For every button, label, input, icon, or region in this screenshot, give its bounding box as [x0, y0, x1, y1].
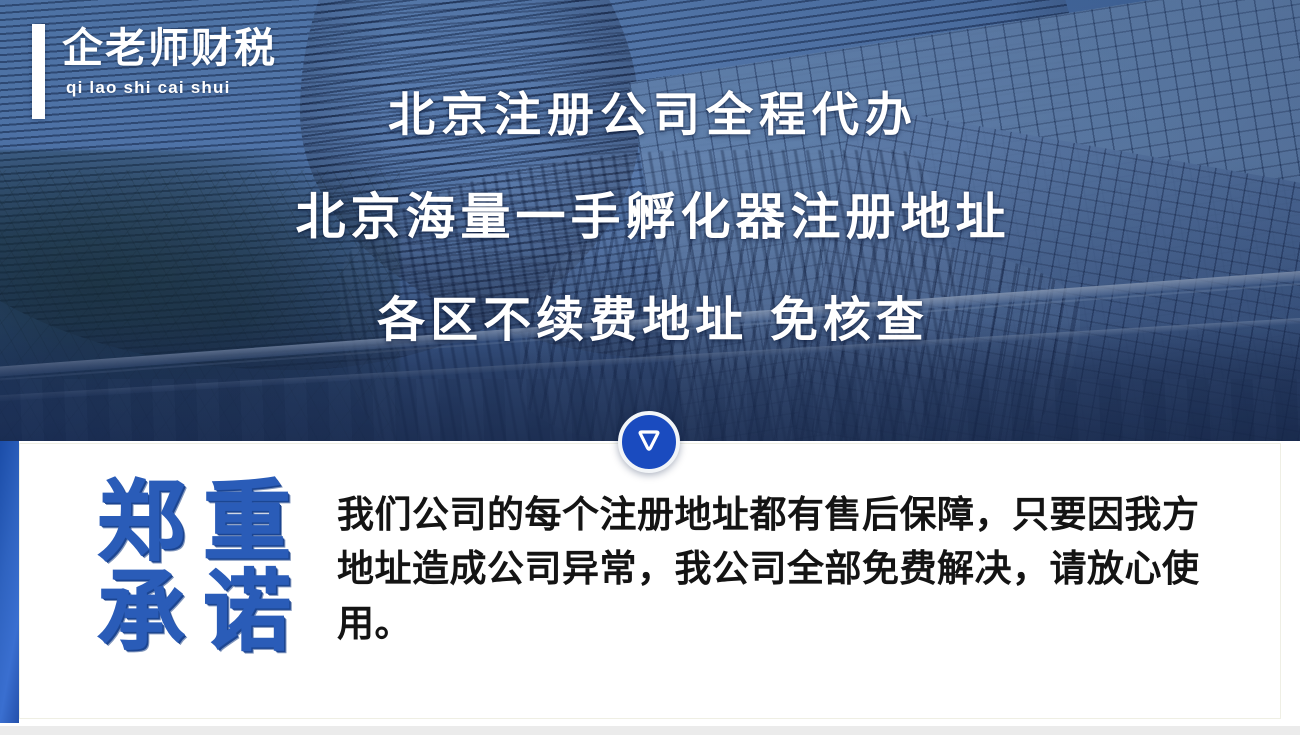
left-accent-bar [0, 441, 19, 723]
triangle-down-icon[interactable] [618, 411, 680, 473]
promise-char-1: 郑 [92, 479, 190, 565]
promise-section: 郑 重 承 诺 我们公司的每个注册地址都有售后保障，只要因我方地址造成公司异常，… [0, 441, 1300, 735]
promise-char-4: 诺 [198, 569, 296, 655]
promise-char-3: 承 [92, 569, 190, 655]
logo-text-group: 企老师财税 qi lao shi cai shui [62, 24, 277, 98]
hero-headline-group: 北京注册公司全程代办 北京海量一手孵化器注册地址 各区不续费地址 免核查 [0, 92, 1300, 344]
headline-line-3: 各区不续费地址 免核查 [6, 296, 1300, 344]
promo-banner-page: 企老师财税 qi lao shi cai shui 北京注册公司全程代办 北京海… [0, 0, 1300, 735]
logo-name-pinyin: qi lao shi cai shui [66, 78, 277, 98]
logo-name-cn: 企老师财税 [62, 24, 277, 72]
promise-title-block: 郑 重 承 诺 [92, 479, 296, 655]
footer-divider-strip [0, 726, 1300, 735]
logo-accent-bar [32, 24, 45, 119]
headline-line-2: 北京海量一手孵化器注册地址 [6, 192, 1300, 242]
promise-char-2: 重 [198, 479, 296, 565]
promise-body-text: 我们公司的每个注册地址都有售后保障，只要因我方地址造成公司异常，我公司全部免费解… [337, 488, 1217, 651]
brand-logo[interactable]: 企老师财税 qi lao shi cai shui [32, 24, 277, 119]
